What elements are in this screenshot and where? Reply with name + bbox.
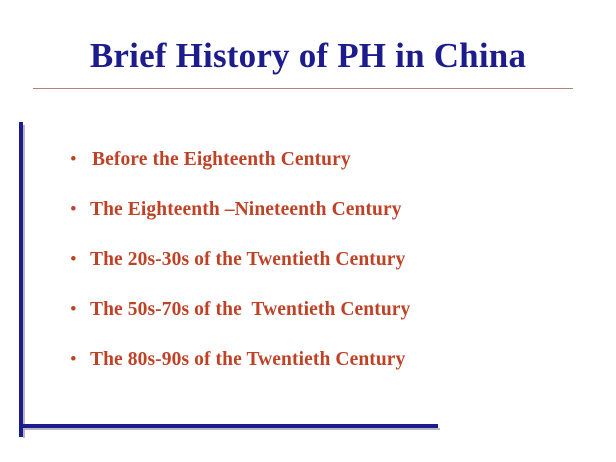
list-item: • The Eighteenth –Nineteenth Century (66, 198, 566, 248)
list-item: • Before the Eighteenth Century (66, 148, 566, 198)
axis-horizontal-line (20, 424, 438, 428)
title-divider-rule (33, 88, 573, 89)
bullet-dot-icon: • (66, 348, 90, 372)
list-item-label: The Eighteenth –Nineteenth Century (90, 198, 566, 222)
list-item-label: The 50s-70s of the Twentieth Century (90, 298, 566, 322)
list-item: • The 20s-30s of the Twentieth Century (66, 248, 566, 298)
slide-canvas: Brief History of PH in China • Before th… (0, 0, 616, 462)
page-title: Brief History of PH in China (0, 36, 616, 76)
bullet-dot-icon: • (66, 198, 90, 222)
list-item: • The 80s-90s of the Twentieth Century (66, 348, 566, 398)
bullet-list: • Before the Eighteenth Century • The Ei… (66, 148, 566, 398)
axis-vertical-shadow (23, 125, 25, 438)
bullet-dot-icon: • (66, 148, 90, 172)
list-item-label: The 80s-90s of the Twentieth Century (90, 348, 566, 372)
list-item: • The 50s-70s of the Twentieth Century (66, 298, 566, 348)
axis-horizontal-shadow (23, 428, 440, 430)
list-item-label: The 20s-30s of the Twentieth Century (90, 248, 566, 272)
axis-vertical-line (19, 122, 23, 437)
bullet-dot-icon: • (66, 248, 90, 272)
bullet-dot-icon: • (66, 298, 90, 322)
list-item-label: Before the Eighteenth Century (90, 148, 566, 172)
